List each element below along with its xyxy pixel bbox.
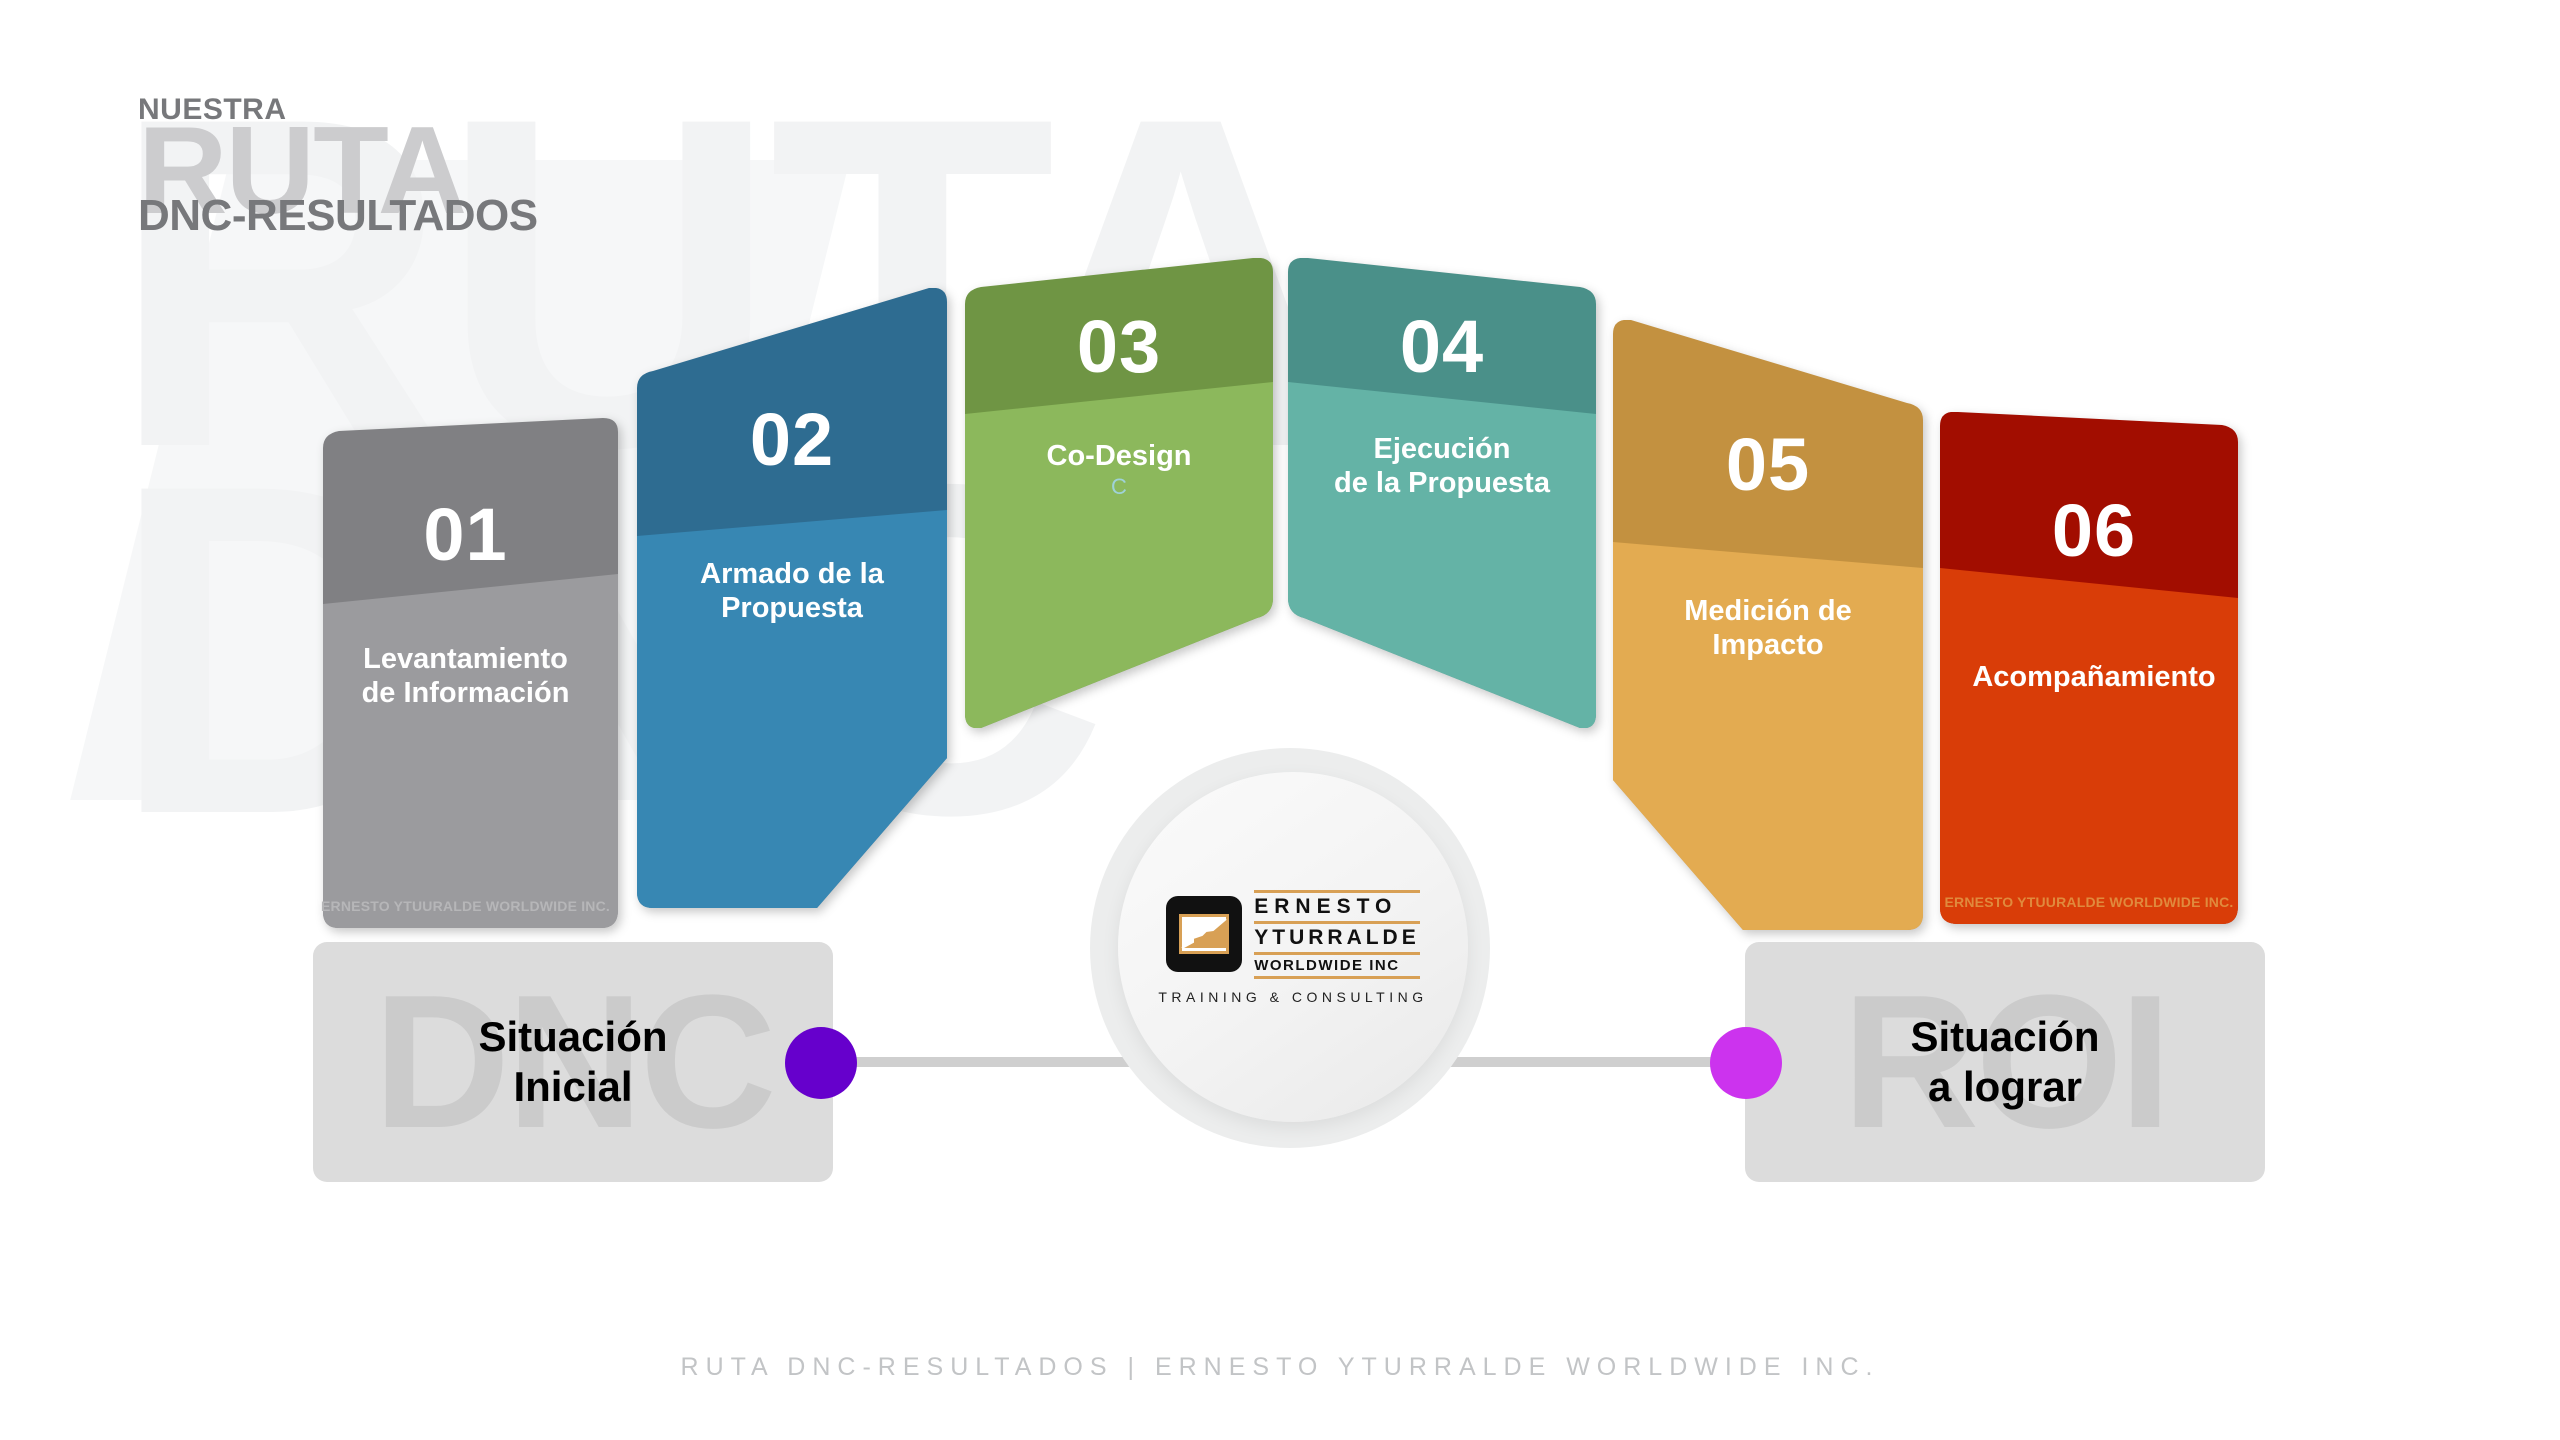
step-card-04[interactable]: 04 Ejecución de la Propuesta: [1288, 258, 1596, 728]
logo-badge[interactable]: ERNESTO YTURRALDE WORLDWIDE INC TRAINING…: [1118, 772, 1468, 1122]
end-state-box[interactable]: ROI Situación a lograr: [1745, 942, 2265, 1182]
slide-canvas: RUTA DNC NUESTRA RUTA DNC-RESULTADOS 01 …: [0, 0, 2560, 1440]
step-card-05-label: Medición de Impacto: [1684, 594, 1852, 662]
end-state-label: Situación a lograr: [1910, 1012, 2099, 1113]
step-card-05-number: 05: [1726, 428, 1810, 502]
chart-mark-icon: [1166, 896, 1242, 972]
step-card-03-label: Co-Design: [1047, 439, 1192, 473]
step-card-06-number: 06: [2052, 494, 2136, 568]
logo-tagline: TRAINING & CONSULTING: [1158, 989, 1427, 1005]
step-card-06-label: Acompañamiento: [1972, 660, 2215, 694]
step-card-01-label: Levantamiento de Información: [362, 642, 570, 710]
title-subtitle: DNC-RESULTADOS: [138, 194, 538, 238]
step-card-01[interactable]: 01 Levantamiento de Información ERNESTO …: [313, 418, 618, 928]
start-state-dot: [785, 1027, 857, 1099]
step-card-02[interactable]: 02 Armado de la Propuesta: [637, 288, 947, 908]
logo-rule-4: [1254, 976, 1420, 979]
page-title: NUESTRA RUTA DNC-RESULTADOS: [138, 95, 538, 238]
start-state-box[interactable]: DNC Situación Inicial: [313, 942, 833, 1182]
step-card-01-brand: ERNESTO YTUURALDE WORLDWIDE INC.: [313, 898, 618, 914]
step-card-06-brand: ERNESTO YTUURALDE WORLDWIDE INC.: [1940, 894, 2238, 910]
step-card-01-number: 01: [423, 498, 507, 572]
start-state-label: Situación Inicial: [478, 1012, 667, 1113]
step-card-03[interactable]: 03 Co-Design C: [965, 258, 1273, 728]
growth-chart-icon: [1179, 914, 1229, 954]
step-card-05[interactable]: 05 Medición de Impacto: [1613, 320, 1923, 930]
end-state-dot: [1710, 1027, 1782, 1099]
page-footer: RUTA DNC-RESULTADOS | ERNESTO YTURRALDE …: [0, 1353, 2560, 1382]
step-card-02-label: Armado de la Propuesta: [700, 557, 884, 625]
step-card-04-number: 04: [1400, 310, 1484, 384]
step-card-03-number: 03: [1077, 310, 1161, 384]
step-card-06[interactable]: 06 Acompañamiento ERNESTO YTUURALDE WORL…: [1940, 412, 2248, 924]
step-card-04-label: Ejecución de la Propuesta: [1334, 432, 1550, 500]
step-card-03-sublabel: C: [1111, 475, 1127, 499]
logo-line-2: YTURRALDE: [1254, 924, 1420, 952]
step-card-02-number: 02: [750, 403, 834, 477]
logo-line-1: ERNESTO: [1254, 893, 1420, 921]
logo-line-3: WORLDWIDE INC: [1254, 955, 1420, 976]
